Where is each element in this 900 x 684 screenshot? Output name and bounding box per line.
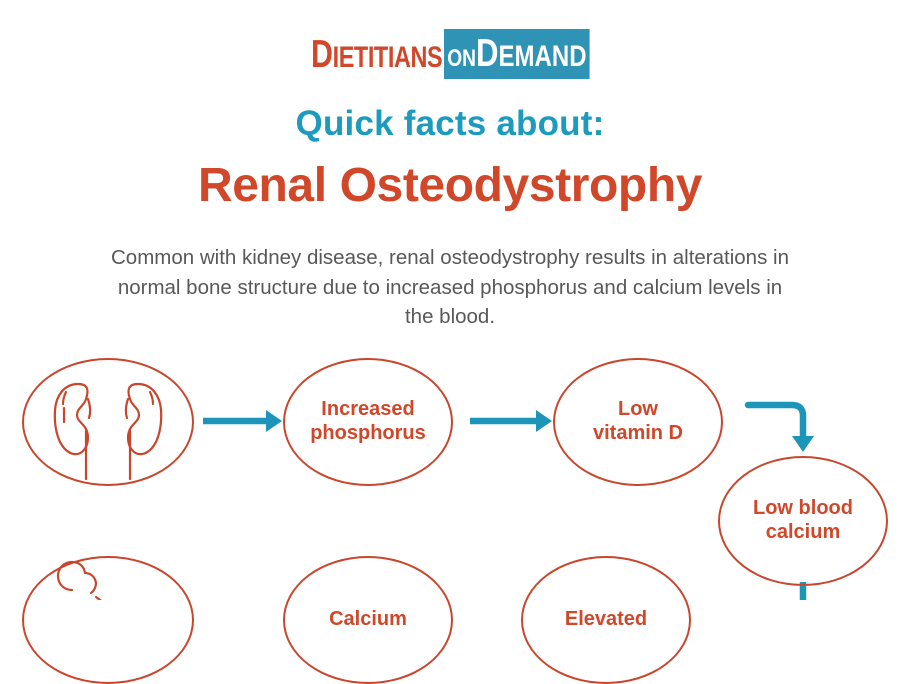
- flow-node-increased-phosphorus[interactable]: Increased phosphorus: [283, 358, 453, 486]
- logo-on-demand-block: ONDEMAND: [444, 29, 590, 79]
- flow-node-vitd-line2: vitamin D: [593, 422, 683, 446]
- logo-dietitians-capital: D: [311, 33, 333, 76]
- flow-node-elevated-line1: Elevated: [565, 608, 647, 632]
- flow-node-bone[interactable]: [22, 556, 194, 684]
- flow-node-calcium-line1: Calcium: [329, 608, 407, 632]
- logo-word-dietitians: DIETITIANS: [311, 35, 442, 74]
- flow-node-calcium[interactable]: Calcium: [283, 556, 453, 684]
- description-text: Common with kidney disease, renal osteod…: [110, 243, 790, 332]
- flow-node-phosphorus-line1: Increased: [310, 398, 426, 422]
- flow-node-phosphorus-line2: phosphorus: [310, 422, 426, 446]
- flow-node-low-calcium-line1: Low blood: [753, 497, 853, 521]
- flow-node-kidneys[interactable]: [22, 358, 194, 486]
- arrow-kidneys-to-phosphorus: [203, 410, 282, 432]
- logo-demand-rest: EMAND: [498, 40, 586, 73]
- flow-node-elevated[interactable]: Elevated: [521, 556, 691, 684]
- logo-dietitians-rest: IETITIANS: [333, 41, 443, 74]
- flow-node-low-blood-calcium[interactable]: Low blood calcium: [718, 456, 888, 586]
- page-title: Renal Osteodystrophy: [0, 158, 900, 213]
- arrow-vitamin-d-to-low-calcium: [748, 405, 814, 452]
- logo-demand-capital: D: [476, 32, 499, 75]
- subtitle: Quick facts about:: [0, 104, 900, 144]
- flow-node-low-vitamin-d[interactable]: Low vitamin D: [553, 358, 723, 486]
- flow-node-vitd-line1: Low: [593, 398, 683, 422]
- flow-node-low-calcium-line2: calcium: [753, 521, 853, 545]
- brand-logo: DIETITIANS ONDEMAND: [0, 28, 900, 80]
- logo-on-text: ON: [447, 45, 476, 72]
- arrow-phosphorus-to-vitamin-d: [470, 410, 552, 432]
